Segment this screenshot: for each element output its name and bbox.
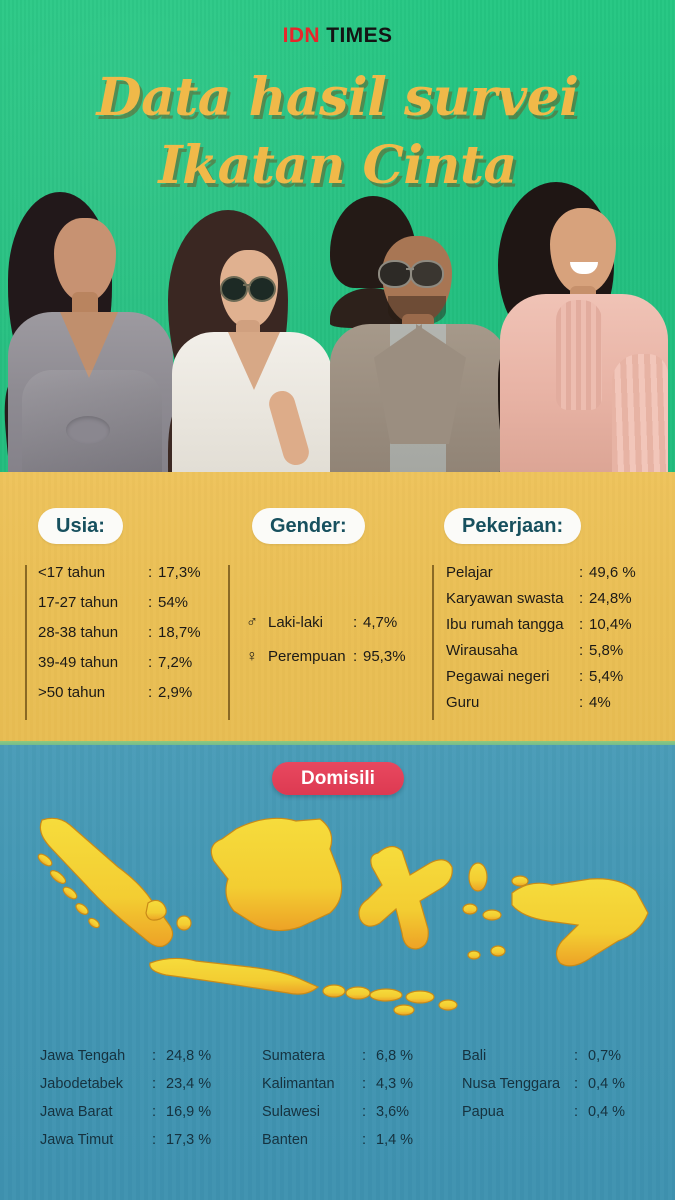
suit-lapel-left xyxy=(374,324,422,444)
stat-value: 54% xyxy=(158,594,188,611)
stat-row: ♀ Perempuan : 95,3% xyxy=(246,648,406,666)
stat-label: >50 tahun xyxy=(38,684,148,701)
infographic-page: IDN TIMES Data hasil survei Ikatan Cinta xyxy=(0,0,675,1200)
island-timor xyxy=(439,1000,457,1010)
island-sulawesi xyxy=(359,846,452,949)
stat-label: Guru xyxy=(446,694,579,711)
waist-knot xyxy=(66,416,110,444)
region-label: Papua xyxy=(462,1104,574,1120)
region-label: Nusa Tenggara xyxy=(462,1076,574,1092)
indonesia-map-svg xyxy=(0,805,675,1030)
cast-member-man-suit xyxy=(330,196,508,472)
sunglasses-bridge xyxy=(406,268,414,270)
stat-value: 7,2% xyxy=(158,654,192,671)
table-row: Sulawesi : 3,6% xyxy=(262,1104,413,1120)
stat-separator: : xyxy=(353,614,363,631)
torso-grey-wrap-top xyxy=(8,312,173,472)
island-flores xyxy=(406,991,434,1003)
island-kai xyxy=(491,946,505,956)
stat-label: Wirausaha xyxy=(446,642,579,659)
row-separator: : xyxy=(574,1104,588,1120)
island-aru xyxy=(468,951,480,959)
brand-logo: IDN TIMES xyxy=(0,24,675,48)
hero-section: IDN TIMES Data hasil survei Ikatan Cinta xyxy=(0,0,675,472)
region-value: 24,8 % xyxy=(166,1048,211,1064)
region-label: Sulawesi xyxy=(262,1104,362,1120)
region-value: 23,4 % xyxy=(166,1076,211,1092)
island-mentawai-3 xyxy=(74,902,90,917)
stat-label: Perempuan xyxy=(262,648,353,665)
torso-pink-blouse xyxy=(500,294,668,472)
table-row: Papua : 0,4 % xyxy=(462,1104,625,1120)
region-label: Banten xyxy=(262,1132,362,1148)
row-separator: : xyxy=(152,1048,166,1064)
stat-row: ♂ Laki-laki : 4,7% xyxy=(246,614,406,632)
stats-heading-gender: Gender: xyxy=(252,508,365,544)
island-belitung xyxy=(177,916,191,930)
raised-arm xyxy=(266,388,312,468)
region-value: 4,3 % xyxy=(376,1076,413,1092)
page-title-line1: Data hasil survei xyxy=(0,72,675,124)
stat-row: <17 tahun : 17,3% xyxy=(38,564,201,581)
region-value: 3,6% xyxy=(376,1104,409,1120)
table-row: Nusa Tenggara : 0,4 % xyxy=(462,1076,625,1092)
stat-separator: : xyxy=(579,694,589,711)
stat-separator: : xyxy=(579,642,589,659)
island-mentawai-2 xyxy=(61,885,79,901)
female-symbol-icon: ♀ xyxy=(246,648,262,666)
island-papua xyxy=(512,879,648,966)
stat-label: 17-27 tahun xyxy=(38,594,148,611)
region-value: 0,4 % xyxy=(588,1076,625,1092)
brand-logo-times: TIMES xyxy=(326,24,392,47)
stat-row: Ibu rumah tangga : 10,4% xyxy=(446,616,636,633)
row-separator: : xyxy=(152,1104,166,1120)
stat-value: 24,8% xyxy=(589,590,632,607)
region-value: 0,4 % xyxy=(588,1104,625,1120)
row-separator: : xyxy=(152,1132,166,1148)
row-separator: : xyxy=(362,1076,376,1092)
region-value: 0,7% xyxy=(588,1048,621,1064)
stat-separator: : xyxy=(353,648,363,665)
v-neckline xyxy=(60,312,118,378)
row-separator: : xyxy=(362,1048,376,1064)
region-value: 1,4 % xyxy=(376,1132,413,1148)
stat-value: 4% xyxy=(589,694,611,711)
column-divider-3 xyxy=(432,565,434,720)
stat-value: 4,7% xyxy=(363,614,397,631)
cast-member-woman-sunglasses xyxy=(168,210,336,472)
row-separator: : xyxy=(574,1076,588,1092)
stat-label: Ibu rumah tangga xyxy=(446,616,579,633)
stat-value: 18,7% xyxy=(158,624,201,641)
row-separator: : xyxy=(152,1076,166,1092)
stat-value: 5,4% xyxy=(589,668,623,685)
table-row: Sumatera : 6,8 % xyxy=(262,1048,413,1064)
region-value: 17,3 % xyxy=(166,1132,211,1148)
island-bali xyxy=(323,985,345,997)
stat-separator: : xyxy=(579,616,589,633)
indonesia-map xyxy=(0,805,675,1030)
stat-label: Pegawai negeri xyxy=(446,668,579,685)
column-divider-2 xyxy=(228,565,230,720)
island-seram xyxy=(483,910,501,920)
stats-column-usia: <17 tahun : 17,3% 17-27 tahun : 54% 28-3… xyxy=(38,564,201,701)
domisili-column-3: Bali : 0,7% Nusa Tenggara : 0,4 % Papua … xyxy=(462,1048,625,1120)
stat-separator: : xyxy=(579,590,589,607)
stats-column-gender: ♂ Laki-laki : 4,7% ♀ Perempuan : 95,3% xyxy=(246,614,406,666)
male-symbol-icon: ♂ xyxy=(246,614,262,632)
row-separator: : xyxy=(362,1132,376,1148)
island-raja-ampat xyxy=(512,876,528,886)
table-row: Kalimantan : 4,3 % xyxy=(262,1076,413,1092)
island-sumba xyxy=(394,1005,414,1015)
stat-separator: : xyxy=(579,668,589,685)
stat-label: Laki-laki xyxy=(262,614,353,631)
region-label: Sumatera xyxy=(262,1048,362,1064)
table-row: Banten : 1,4 % xyxy=(262,1132,413,1148)
island-enggano xyxy=(87,917,101,930)
sunglasses-bridge xyxy=(243,284,251,286)
stat-separator: : xyxy=(148,684,158,701)
cast-member-woman-grey xyxy=(8,192,173,472)
stat-value: 10,4% xyxy=(589,616,632,633)
stat-separator: : xyxy=(148,594,158,611)
island-nias xyxy=(36,852,54,868)
torso-taupe-suit xyxy=(330,324,508,472)
island-buru xyxy=(463,904,477,914)
stat-row: 28-38 tahun : 18,7% xyxy=(38,624,201,641)
island-kalimantan xyxy=(211,818,341,930)
stat-label: 28-38 tahun xyxy=(38,624,148,641)
stat-separator: : xyxy=(148,564,158,581)
stat-value: 17,3% xyxy=(158,564,201,581)
island-halmahera xyxy=(469,863,487,891)
stat-row: Guru : 4% xyxy=(446,694,636,711)
stat-separator: : xyxy=(579,564,589,581)
stat-value: 49,6 % xyxy=(589,564,636,581)
stats-column-pekerjaan: Pelajar : 49,6 % Karyawan swasta : 24,8%… xyxy=(446,564,636,711)
stat-row: Pegawai negeri : 5,4% xyxy=(446,668,636,685)
domisili-column-2: Sumatera : 6,8 % Kalimantan : 4,3 % Sula… xyxy=(262,1048,413,1148)
table-row: Jawa Tengah : 24,8 % xyxy=(40,1048,211,1064)
stat-value: 95,3% xyxy=(363,648,406,665)
domisili-column-1: Jawa Tengah : 24,8 % Jabodetabek : 23,4 … xyxy=(40,1048,211,1148)
stat-value: 2,9% xyxy=(158,684,192,701)
row-separator: : xyxy=(362,1104,376,1120)
island-java xyxy=(150,958,318,994)
region-label: Jawa Timut xyxy=(40,1132,152,1148)
stat-row: 17-27 tahun : 54% xyxy=(38,594,201,611)
stat-row: 39-49 tahun : 7,2% xyxy=(38,654,201,671)
region-label: Jabodetabek xyxy=(40,1076,152,1092)
sunglasses-lens-left-icon xyxy=(378,260,412,288)
island-bangka xyxy=(146,900,166,920)
island-sumbawa xyxy=(370,989,402,1001)
region-value: 6,8 % xyxy=(376,1048,413,1064)
brand-logo-idn: IDN xyxy=(283,24,320,47)
region-label: Kalimantan xyxy=(262,1076,362,1092)
cast-member-woman-pink xyxy=(498,182,670,472)
blouse-ruffle xyxy=(556,300,602,410)
region-label: Jawa Barat xyxy=(40,1104,152,1120)
table-row: Jawa Barat : 16,9 % xyxy=(40,1104,211,1120)
stat-label: Karyawan swasta xyxy=(446,590,579,607)
table-row: Jabodetabek : 23,4 % xyxy=(40,1076,211,1092)
region-label: Bali xyxy=(462,1048,574,1064)
region-value: 16,9 % xyxy=(166,1104,211,1120)
stat-label: Pelajar xyxy=(446,564,579,581)
stats-section: Usia: Gender: Pekerjaan: <17 tahun : 17,… xyxy=(0,472,675,745)
island-mentawai-1 xyxy=(48,868,67,885)
stat-label: 39-49 tahun xyxy=(38,654,148,671)
stat-label: <17 tahun xyxy=(38,564,148,581)
region-label: Jawa Tengah xyxy=(40,1048,152,1064)
row-separator: : xyxy=(574,1048,588,1064)
cast-photo-group xyxy=(0,172,675,472)
stat-row: Pelajar : 49,6 % xyxy=(446,564,636,581)
stat-row: Karyawan swasta : 24,8% xyxy=(446,590,636,607)
table-row: Bali : 0,7% xyxy=(462,1048,625,1064)
stat-separator: : xyxy=(148,654,158,671)
stats-heading-pekerjaan: Pekerjaan: xyxy=(444,508,581,544)
table-row: Jawa Timut : 17,3 % xyxy=(40,1132,211,1148)
torso-white-blouse xyxy=(172,332,332,472)
column-divider-1 xyxy=(25,565,27,720)
puff-sleeve xyxy=(612,354,668,472)
island-lombok xyxy=(346,987,370,999)
domisili-badge: Domisili xyxy=(272,762,404,795)
v-neckline xyxy=(228,332,280,390)
sunglasses-lens-right-icon xyxy=(248,276,276,302)
suit-lapel-right xyxy=(416,324,466,444)
sunglasses-lens-left-icon xyxy=(220,276,248,302)
stat-value: 5,8% xyxy=(589,642,623,659)
stat-row: >50 tahun : 2,9% xyxy=(38,684,201,701)
stat-separator: : xyxy=(148,624,158,641)
stat-row: Wirausaha : 5,8% xyxy=(446,642,636,659)
stats-heading-usia: Usia: xyxy=(38,508,123,544)
sunglasses-lens-right-icon xyxy=(410,260,444,288)
